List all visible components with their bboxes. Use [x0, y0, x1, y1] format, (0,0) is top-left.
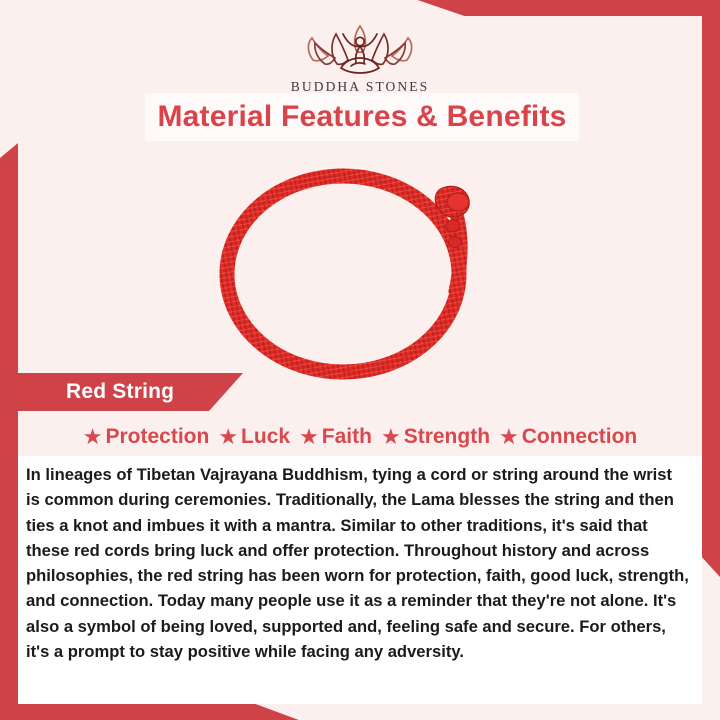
star-icon: ★ — [83, 426, 103, 448]
product-name-tag: Red String — [0, 373, 243, 411]
feature-item-luck: ★ Luck — [218, 425, 290, 449]
feature-label: Luck — [241, 425, 290, 449]
star-icon: ★ — [499, 426, 519, 448]
lotus-meditation-icon — [301, 16, 419, 78]
star-icon: ★ — [299, 426, 319, 448]
feature-item-connection: ★ Connection — [499, 425, 637, 449]
feature-label: Connection — [522, 425, 638, 449]
page-title: Material Features & Benefits — [157, 100, 566, 134]
red-braided-cord-bracelet-icon — [215, 154, 505, 382]
feature-item-protection: ★ Protection — [83, 425, 210, 449]
headline-band: Material Features & Benefits — [145, 93, 579, 141]
feature-label: Protection — [105, 425, 209, 449]
brand-logo: BUDDHA STONES — [0, 16, 720, 95]
feature-item-strength: ★ Strength — [381, 425, 490, 449]
description-paragraph: In lineages of Tibetan Vajrayana Buddhis… — [26, 462, 690, 664]
poster-canvas: BUDDHA STONES Material Features & Benefi… — [0, 0, 720, 720]
frame-top-accent — [0, 0, 720, 16]
product-name-label: Red String — [66, 380, 174, 404]
description-card: In lineages of Tibetan Vajrayana Buddhis… — [18, 456, 702, 704]
hero-product-image — [0, 150, 720, 385]
star-icon: ★ — [218, 426, 238, 448]
star-icon: ★ — [381, 426, 401, 448]
feature-label: Faith — [322, 425, 372, 449]
frame-bottom-accent — [0, 704, 720, 720]
feature-list: ★ Protection ★ Luck ★ Faith ★ Strength ★… — [18, 421, 702, 453]
feature-label: Strength — [404, 425, 490, 449]
feature-item-faith: ★ Faith — [299, 425, 372, 449]
